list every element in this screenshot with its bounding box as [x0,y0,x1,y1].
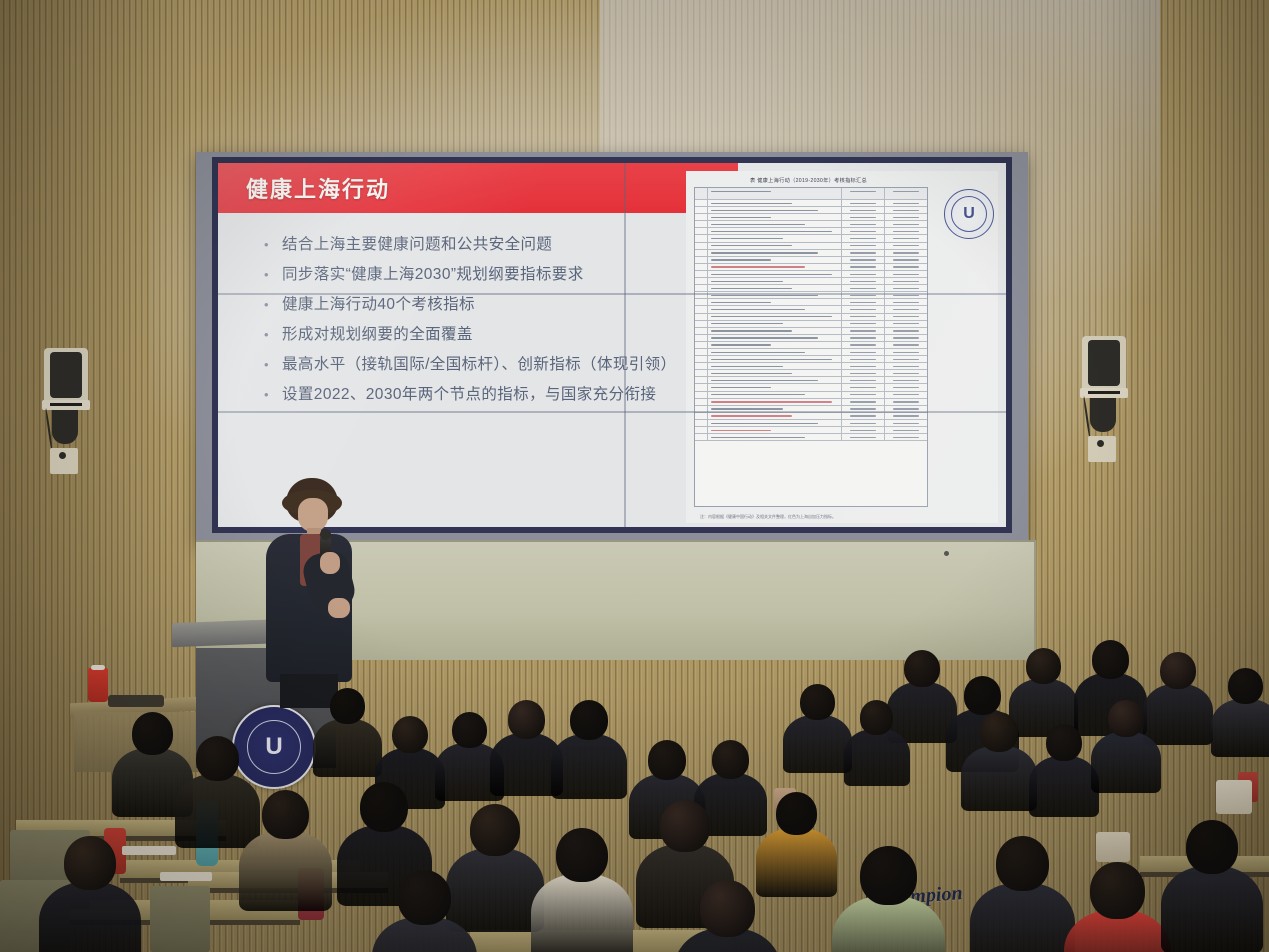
audience-shoulders [961,746,1037,811]
bullet-text: 最高水平（接轨国际/全国标杆）、创新指标（体现引领） [282,351,689,379]
table-row [695,228,927,235]
wall-speaker-left [44,348,88,466]
audience-shoulders [1143,684,1214,745]
audience-shoulders [239,831,332,911]
table-row [695,413,927,420]
audience-head [398,870,451,925]
seat-back [150,886,210,952]
audience-head [330,688,365,724]
table-row [695,384,927,391]
audience-head [1186,820,1238,874]
audience-head [860,846,917,905]
audience-shoulders [1211,699,1269,758]
audience-head [700,880,755,937]
audience-shoulders [175,774,260,848]
panel-seam-horizontal [218,411,1006,413]
audience-head [996,836,1049,891]
board-mark [944,551,949,556]
table-row [695,235,927,242]
bullet-marker: • [264,351,282,379]
audience-shoulders [756,828,837,897]
paper-sheet-object-2 [160,872,212,881]
audience-head [800,684,835,720]
paper-sheet-object [122,846,176,855]
audience-head [392,716,428,753]
table-row [695,285,927,292]
notebook-object [1096,832,1130,862]
table-row [695,377,927,384]
table-row [695,221,927,228]
audience-head [712,740,749,779]
audience-head [1046,724,1082,761]
audience-head [196,736,239,781]
bullet-marker: • [264,261,282,289]
audience-head [904,650,940,687]
audience-head [1090,862,1145,919]
table-row [695,207,927,214]
audience-head [1160,652,1196,689]
table-row [695,356,927,363]
audience-head [64,836,116,890]
table-caption: 表 健康上海行动（2019-2030年）考核指标汇总 [696,177,921,184]
table-row [695,314,927,321]
presenter [258,478,364,706]
table-row [695,264,927,271]
audience-head [1026,648,1061,684]
table-row [695,243,927,250]
table-row [695,420,927,427]
table-row [695,200,927,207]
table-row [695,363,927,370]
audience-head [1108,700,1144,737]
audience-shoulders [844,729,910,786]
audience-shoulders [1161,866,1263,952]
audience-head [132,712,173,755]
bullet-text: 结合上海主要健康问题和公共安全问题 [282,231,689,259]
bullet-text: 健康上海行动40个考核指标 [282,291,689,319]
audience-shoulders [39,882,141,952]
audience-shoulders [313,719,381,778]
bullet-text: 同步落实“健康上海2030”规划纲要指标要求 [282,261,689,289]
bullet-marker: • [264,291,282,319]
panel-seam-vertical [624,163,626,527]
audience-shoulders [531,874,633,952]
table-row [695,370,927,377]
table-row [695,214,927,221]
audience-head [570,700,608,740]
table-row [695,321,927,328]
audience-head [660,800,710,852]
table-row [695,342,927,349]
bullet-text: 形成对规划纲要的全面覆盖 [282,321,689,349]
lecture-hall-photo: 健康上海行动 • 结合上海主要健康问题和公共安全问题 • 同步落实“健康上海20… [0,0,1269,952]
bullet-marker: • [264,321,282,349]
presentation-slide: 健康上海行动 • 结合上海主要健康问题和公共安全问题 • 同步落实“健康上海20… [218,163,1006,527]
audience-head [262,790,309,839]
emblem-inner-ring: U [951,196,987,232]
table-row [695,427,927,434]
table-row [695,434,927,441]
panel-seam-horizontal [218,293,1006,295]
presenter-face [298,498,328,532]
slide-title: 健康上海行动 [246,172,390,204]
audience-shoulders [551,734,627,799]
audience-head [556,828,608,882]
red-cup-object [88,668,108,702]
slide-table-block: 表 健康上海行动（2019-2030年）考核指标汇总 注：内容根据《健康中国行动… [686,171,998,523]
audience-shoulders [1091,732,1162,793]
bullet-text: 设置2022、2030年两个节点的指标，与国家充分衔接 [282,381,689,409]
audience-shoulders [783,715,851,774]
table-row [695,271,927,278]
audience-head [1228,668,1263,704]
table-row [695,349,927,356]
table-row [695,257,927,264]
bullet-marker: • [264,381,282,409]
table-row [695,328,927,335]
presenter-hand-lower [328,598,350,618]
bullet-marker: • [264,231,282,259]
table-row [695,399,927,406]
table-row [695,306,927,313]
ledge-equipment [108,695,164,707]
audience-shoulders [1029,756,1100,817]
table-row [695,299,927,306]
paper-object [1216,780,1252,814]
indicator-table [694,187,928,507]
wall-speaker-right [1082,336,1126,454]
table-row [695,335,927,342]
audience-head [776,792,817,835]
table-header-row [695,188,927,200]
university-emblem-icon: U [944,189,994,239]
podium-emblem-inner: U [247,720,301,774]
audience-head [1092,640,1129,679]
table-row [695,278,927,285]
audience-shoulders [446,848,544,932]
table-row [695,392,927,399]
audience-head [964,676,1001,715]
presenter-hand [320,552,340,574]
audience-head [508,700,545,739]
audience-head [648,740,686,780]
audience-head [980,712,1018,752]
audience-head [360,782,408,832]
audience-head [470,804,520,856]
audience-head [860,700,893,735]
table-footnote: 注：内容根据《健康中国行动》及相关文件整理，红色为上海自加压力指标。 [700,514,836,519]
audience-head [452,712,487,748]
audience-shoulders [970,883,1075,952]
podium-university-emblem-icon: U [232,705,316,789]
table-row [695,250,927,257]
